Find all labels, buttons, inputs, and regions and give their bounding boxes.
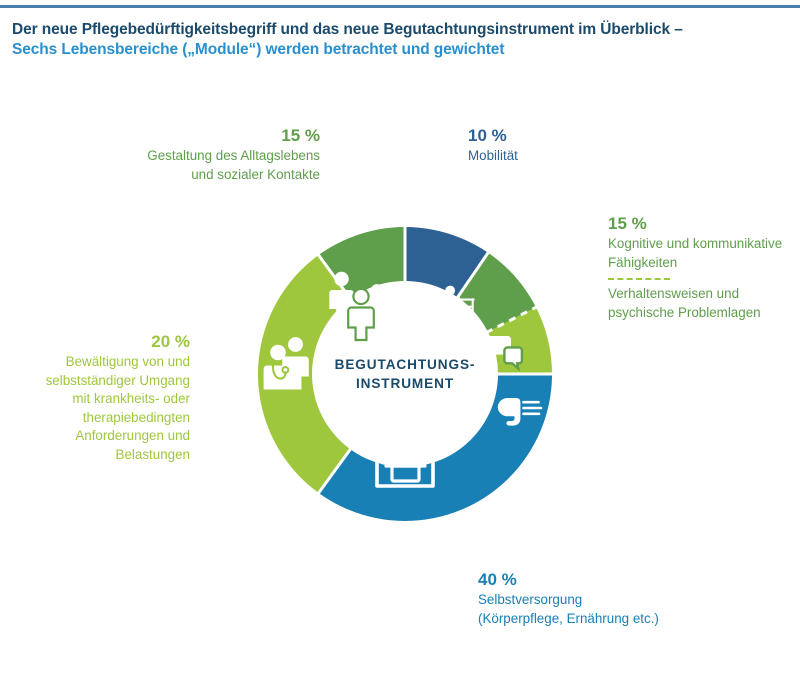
label-bewaeltigung-line-6: Belastungen	[0, 446, 190, 465]
page-title: Der neue Pflegebedürftigkeitsbegriff und…	[12, 20, 782, 60]
label-dashed-separator	[608, 278, 670, 280]
label-selbstversorgung-line-2: (Körperpflege, Ernährung etc.)	[478, 610, 778, 629]
label-gestaltung-percent: 15 %	[40, 124, 320, 147]
label-verhaltensweisen-line-1: Verhaltensweisen und	[608, 285, 800, 304]
infographic-figure: BEGUTACHTUNGS- INSTRUMENT 15 % Gestaltun…	[0, 96, 800, 691]
label-bewaeltigung-percent: 20 %	[0, 330, 190, 353]
label-gestaltung-line-1: Gestaltung des Alltagslebens	[40, 147, 320, 166]
label-kognitive-line-2: Fähigkeiten	[608, 254, 800, 273]
label-bewaeltigung-line-1: Bewältigung von und	[0, 353, 190, 372]
label-bewaeltigung-line-3: mit krankheits- oder	[0, 390, 190, 409]
label-bewaeltigung-line-5: Anforderungen und	[0, 427, 190, 446]
label-gestaltung: 15 % Gestaltung des Alltagslebens und so…	[40, 124, 320, 184]
label-selbstversorgung-percent: 40 %	[478, 568, 778, 591]
label-verhaltensweisen-line-2: psychische Problemlagen	[608, 304, 800, 323]
label-kognitive-percent: 15 %	[608, 212, 800, 235]
header-rule	[0, 5, 800, 8]
label-bewaeltigung-line-4: therapiebedingten	[0, 409, 190, 428]
label-selbstversorgung-line-1: Selbstversorgung	[478, 591, 778, 610]
label-bewaeltigung: 20 % Bewältigung von und selbstständiger…	[0, 330, 190, 464]
label-bewaeltigung-line-2: selbstständiger Umgang	[0, 372, 190, 391]
label-mobilitaet: 10 % Mobilität	[468, 124, 688, 166]
title-line-2: Sechs Lebensbereiche („Module“) werden b…	[12, 40, 782, 60]
label-kognitive: 15 % Kognitive und kommunikative Fähigke…	[608, 212, 800, 322]
label-gestaltung-line-2: und sozialer Kontakte	[40, 166, 320, 185]
label-mobilitaet-percent: 10 %	[468, 124, 688, 147]
label-mobilitaet-line-1: Mobilität	[468, 147, 688, 166]
title-line-1: Der neue Pflegebedürftigkeitsbegriff und…	[12, 20, 782, 40]
label-kognitive-line-1: Kognitive und kommunikative	[608, 235, 800, 254]
label-selbstversorgung: 40 % Selbstversorgung (Körperpflege, Ern…	[478, 568, 778, 628]
donut-chart	[255, 224, 555, 524]
